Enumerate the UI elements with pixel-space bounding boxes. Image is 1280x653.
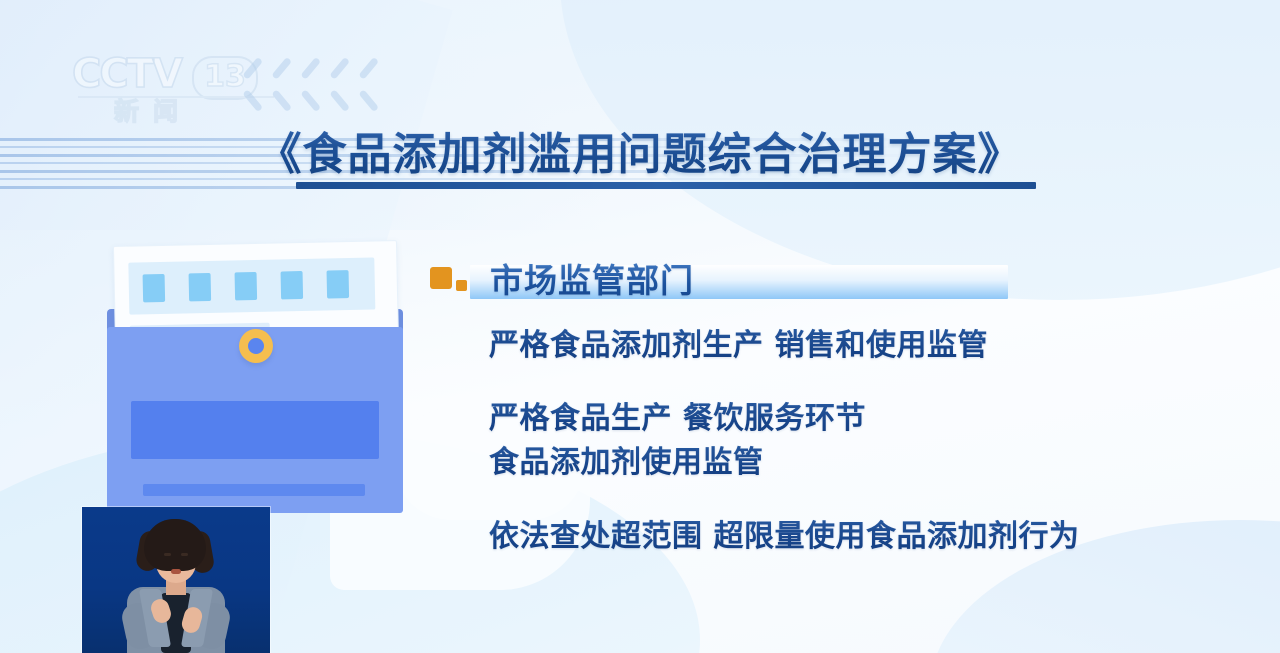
logo-cn-text: 新闻 xyxy=(114,92,192,128)
section-heading-row: 市场监管部门 xyxy=(430,258,990,304)
section-heading-text: 市场监管部门 xyxy=(490,258,694,304)
document-folder-illustration xyxy=(107,243,412,515)
chevron-decoration-icon xyxy=(245,60,395,112)
interpreter-eye-right xyxy=(181,553,188,556)
folder-clasp-center xyxy=(248,338,264,354)
interpreter-mouth xyxy=(171,569,181,574)
sign-language-interpreter-inset xyxy=(82,507,270,653)
folder-bottom-line xyxy=(143,484,365,496)
bullet-square-small-icon xyxy=(456,280,467,291)
bullet-square-large-icon xyxy=(430,267,452,289)
broadcast-graphic: CCTV 13 新闻 《食品添加剂滥用问题综合治理方案》 xyxy=(0,0,1280,653)
document-panel xyxy=(128,258,375,315)
section-body-lines: 严格食品添加剂生产 销售和使用监管 严格食品生产 餐饮服务环节 食品添加剂使用监… xyxy=(489,320,1229,563)
interpreter-hair-top xyxy=(144,519,206,571)
folder-inner-panel xyxy=(131,401,379,459)
page-title: 《食品添加剂滥用问题综合治理方案》 xyxy=(258,126,1023,184)
body-line: 依法查处超范围 超限量使用食品添加剂行为 xyxy=(489,511,1229,563)
folder-clasp-icon xyxy=(239,329,273,363)
interpreter-eye-left xyxy=(164,553,171,556)
body-line: 严格食品添加剂生产 销售和使用监管 xyxy=(489,320,1229,372)
title-underline xyxy=(296,182,1036,189)
page-title-wrap: 《食品添加剂滥用问题综合治理方案》 xyxy=(0,126,1280,184)
